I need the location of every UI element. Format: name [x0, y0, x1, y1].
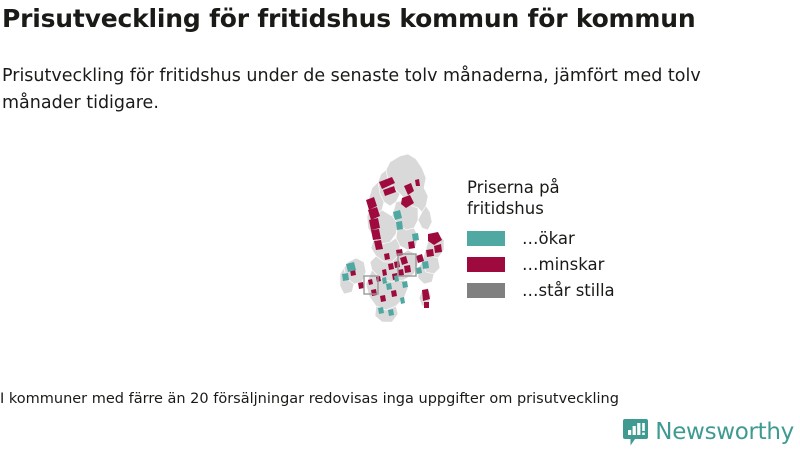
- legend-swatch-increasing: [467, 231, 505, 246]
- page-subtitle: Prisutveckling för fritidshus under de s…: [2, 63, 772, 116]
- legend-item-decreasing[interactable]: …minskar: [467, 252, 642, 278]
- legend-item-increasing[interactable]: …ökar: [467, 226, 642, 252]
- legend-item-unchanged[interactable]: …står stilla: [467, 278, 642, 304]
- newsworthy-logo[interactable]: Newsworthy: [623, 418, 794, 446]
- figure-area: Priserna på fritidshus …ökar …minskar …s…: [0, 140, 800, 340]
- page-title: Prisutveckling för fritidshus kommun för…: [2, 4, 782, 34]
- legend-label-decreasing: …minskar: [522, 255, 604, 274]
- newsworthy-bar-chart-bubble-icon: [623, 419, 648, 446]
- legend-label-increasing: …ökar: [522, 229, 575, 248]
- legend-swatch-unchanged: [467, 283, 505, 298]
- sweden-choropleth-map[interactable]: [338, 150, 458, 328]
- legend-label-unchanged: …står stilla: [522, 281, 615, 300]
- newsworthy-wordmark: Newsworthy: [655, 421, 794, 444]
- legend-title: Priserna på fritidshus: [467, 178, 597, 220]
- footnote: I kommuner med färre än 20 försäljningar…: [0, 390, 790, 409]
- legend-swatch-decreasing: [467, 257, 505, 272]
- map-svg: [338, 150, 458, 328]
- map-legend: Priserna på fritidshus …ökar …minskar …s…: [467, 178, 642, 304]
